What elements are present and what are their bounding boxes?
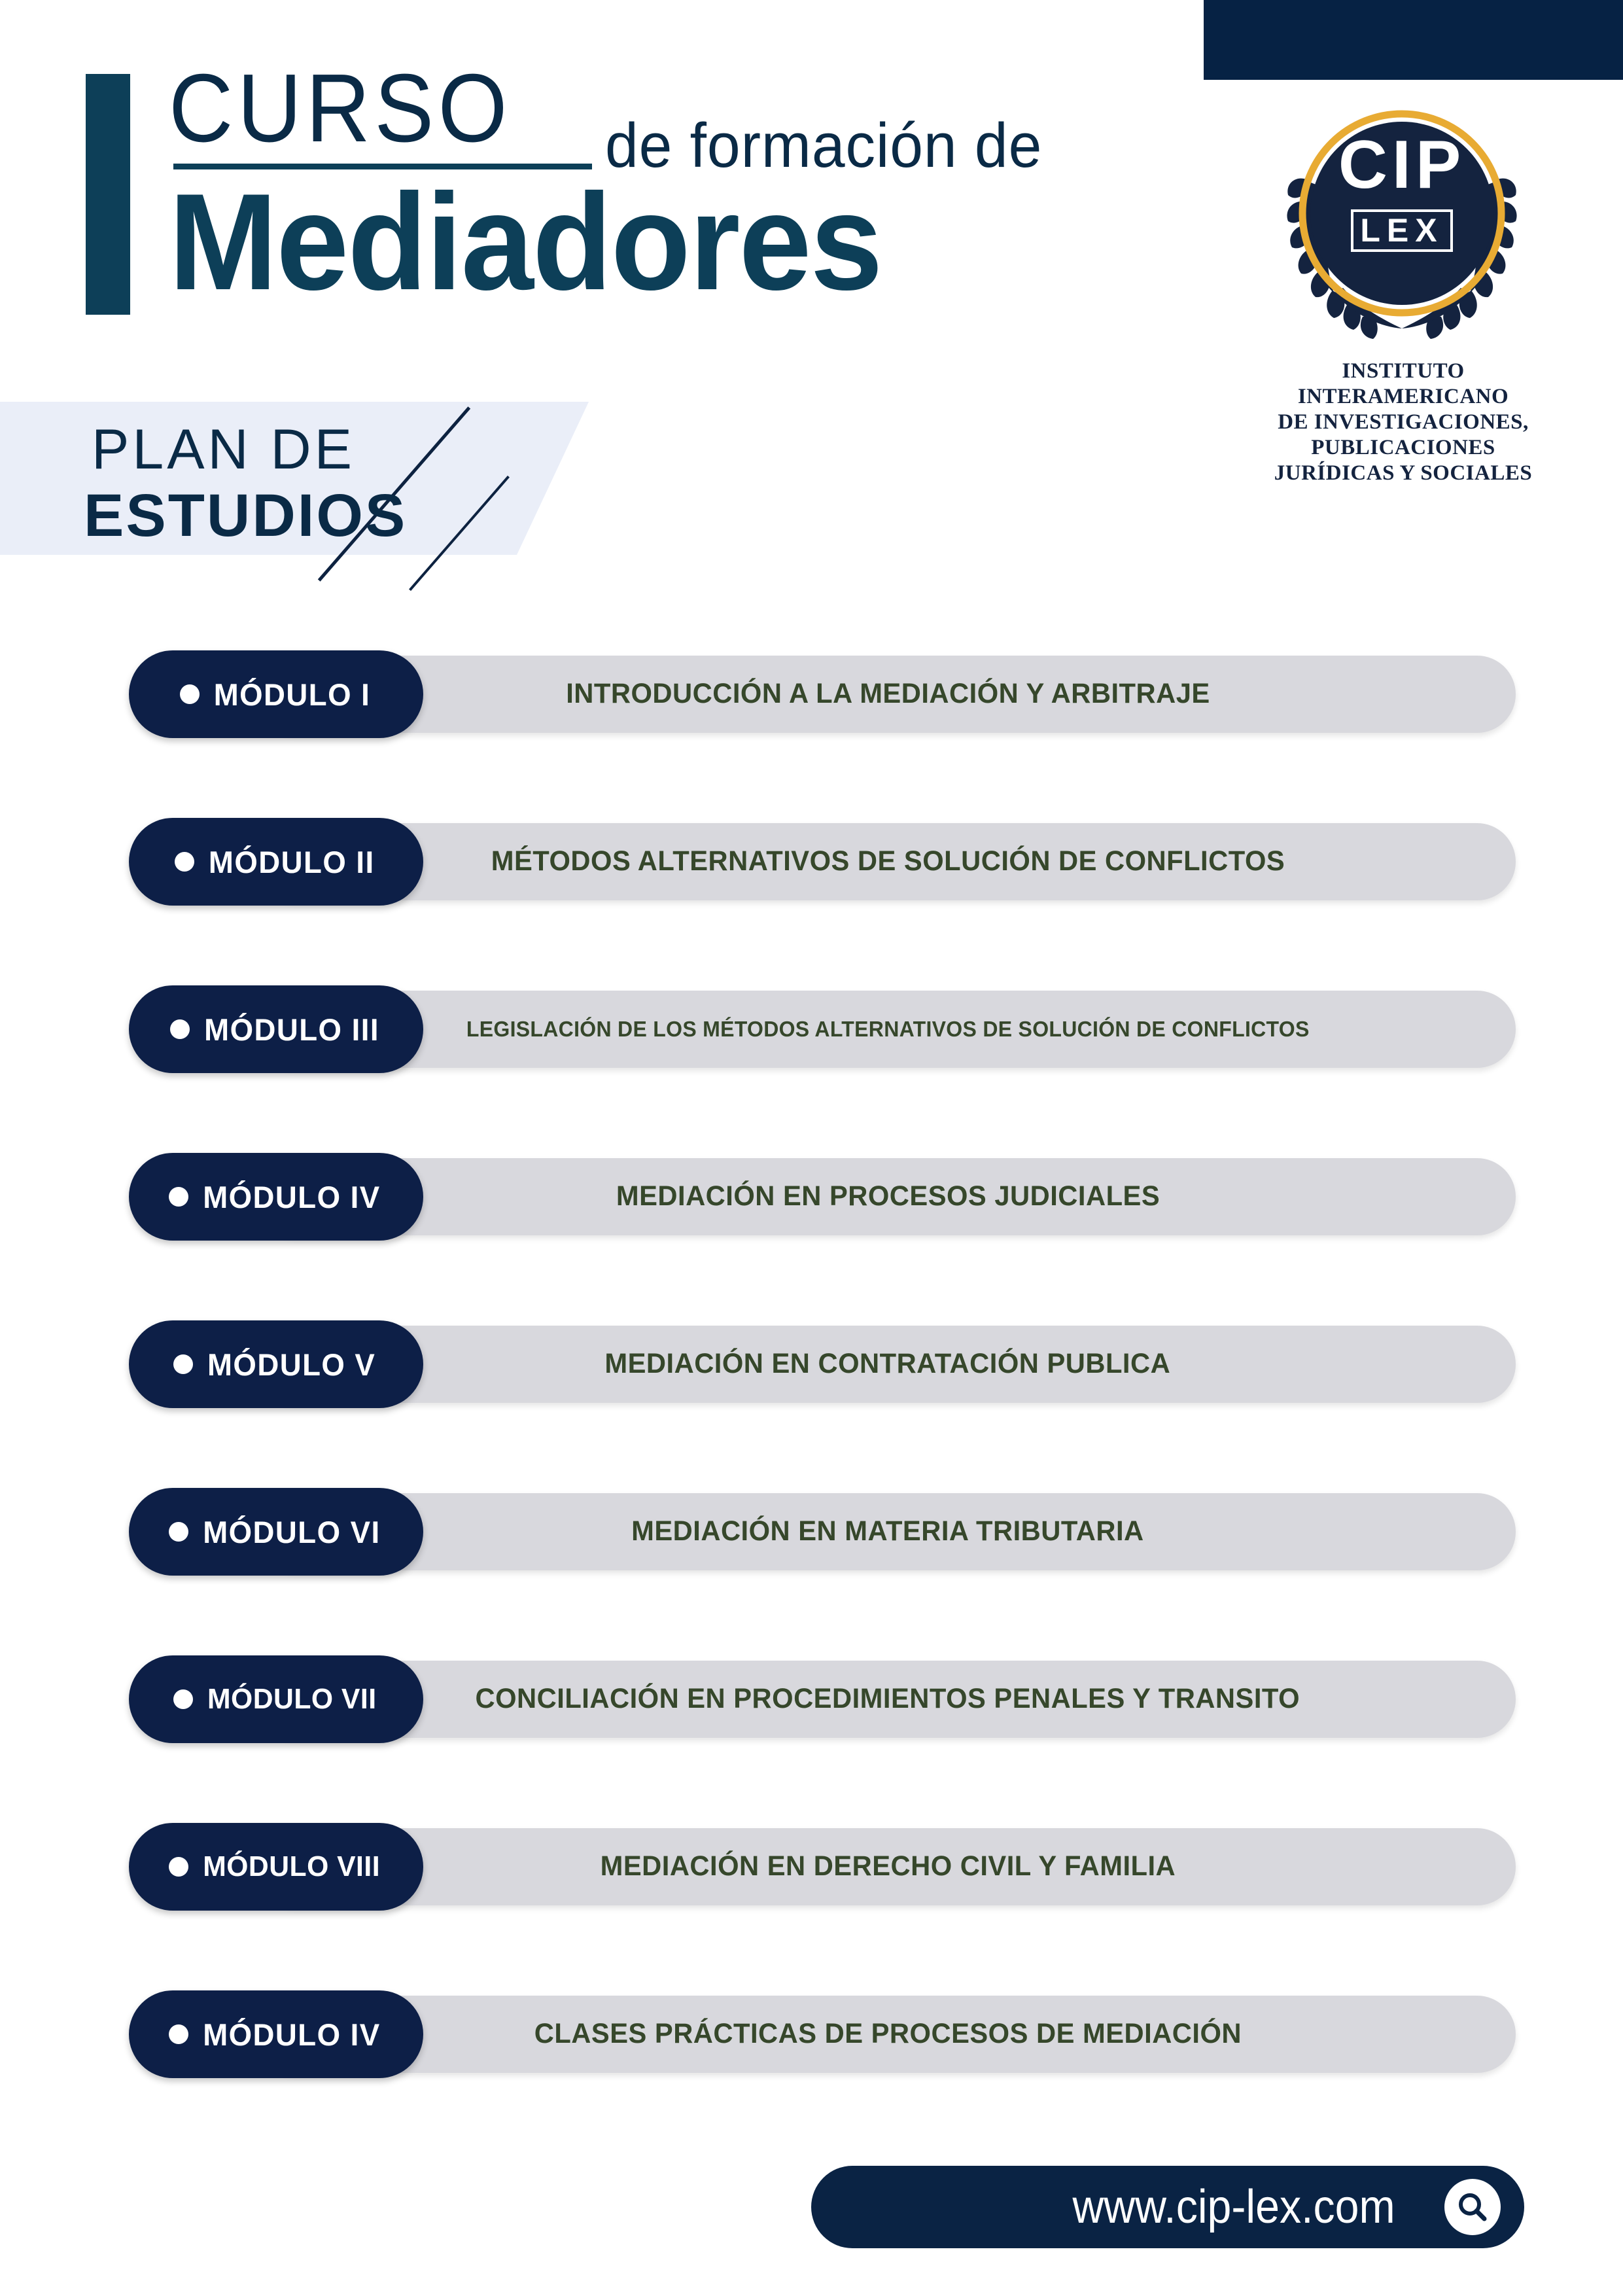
- bullet-dot-icon: [173, 1354, 193, 1374]
- module-label: MÓDULO VIII: [203, 1850, 381, 1883]
- module-label: MÓDULO IV: [203, 2017, 380, 2053]
- bullet-dot-icon: [180, 684, 200, 704]
- module-badge[interactable]: MÓDULO VII: [129, 1655, 423, 1743]
- search-icon[interactable]: [1444, 2179, 1501, 2235]
- module-title-bar: MEDIACIÓN EN CONTRATACIÓN PUBLICA: [260, 1326, 1516, 1403]
- bullet-dot-icon: [170, 1019, 190, 1039]
- module-title: LEGISLACIÓN DE LOS MÉTODOS ALTERNATIVOS …: [466, 1016, 1310, 1043]
- module-label: MÓDULO VII: [207, 1683, 377, 1716]
- bullet-dot-icon: [169, 2024, 188, 2044]
- module-row[interactable]: MÉTODOS ALTERNATIVOS DE SOLUCIÓN DE CONF…: [129, 823, 1516, 900]
- bullet-dot-icon: [173, 1689, 193, 1709]
- module-label: MÓDULO I: [213, 677, 370, 713]
- module-row[interactable]: MEDIACIÓN EN PROCESOS JUDICIALES MÓDULO …: [129, 1158, 1516, 1235]
- module-badge[interactable]: MÓDULO I: [129, 650, 423, 738]
- bullet-dot-icon: [169, 1187, 188, 1207]
- module-badge[interactable]: MÓDULO IV: [129, 1990, 423, 2078]
- module-title: MEDIACIÓN EN MATERIA TRIBUTARIA: [631, 1513, 1144, 1549]
- module-label: MÓDULO VI: [203, 1514, 380, 1550]
- module-badge[interactable]: MÓDULO IV: [129, 1153, 423, 1241]
- bullet-dot-icon: [169, 1522, 188, 1542]
- module-title-bar: CONCILIACIÓN EN PROCEDIMIENTOS PENALES Y…: [260, 1661, 1516, 1738]
- module-title: MEDIACIÓN EN PROCESOS JUDICIALES: [616, 1178, 1159, 1214]
- module-title-bar: MEDIACIÓN EN PROCESOS JUDICIALES: [260, 1158, 1516, 1235]
- module-title-bar: INTRODUCCIÓN A LA MEDIACIÓN Y ARBITRAJE: [260, 656, 1516, 733]
- modules-list: INTRODUCCIÓN A LA MEDIACIÓN Y ARBITRAJE …: [0, 0, 1623, 2296]
- module-title: CONCILIACIÓN EN PROCEDIMIENTOS PENALES Y…: [476, 1681, 1300, 1717]
- module-row[interactable]: LEGISLACIÓN DE LOS MÉTODOS ALTERNATIVOS …: [129, 991, 1516, 1068]
- module-badge[interactable]: MÓDULO II: [129, 818, 423, 906]
- magnifier-glyph: [1455, 2189, 1490, 2225]
- module-title-bar: CLASES PRÁCTICAS DE PROCESOS DE MEDIACIÓ…: [260, 1996, 1516, 2073]
- module-label: MÓDULO II: [209, 844, 375, 880]
- module-badge[interactable]: MÓDULO V: [129, 1320, 423, 1408]
- bullet-dot-icon: [175, 852, 194, 872]
- module-title-bar: LEGISLACIÓN DE LOS MÉTODOS ALTERNATIVOS …: [260, 991, 1516, 1068]
- website-url[interactable]: www.cip-lex.com: [1072, 2180, 1395, 2234]
- module-title-bar: MEDIACIÓN EN DERECHO CIVIL Y FAMILIA: [260, 1828, 1516, 1905]
- module-title-bar: MÉTODOS ALTERNATIVOS DE SOLUCIÓN DE CONF…: [260, 823, 1516, 900]
- module-row[interactable]: MEDIACIÓN EN MATERIA TRIBUTARIA MÓDULO V…: [129, 1493, 1516, 1570]
- module-title-bar: MEDIACIÓN EN MATERIA TRIBUTARIA: [260, 1493, 1516, 1570]
- module-row[interactable]: CLASES PRÁCTICAS DE PROCESOS DE MEDIACIÓ…: [129, 1996, 1516, 2073]
- module-row[interactable]: MEDIACIÓN EN DERECHO CIVIL Y FAMILIA MÓD…: [129, 1828, 1516, 1905]
- module-badge[interactable]: MÓDULO VIII: [129, 1823, 423, 1911]
- module-row[interactable]: INTRODUCCIÓN A LA MEDIACIÓN Y ARBITRAJE …: [129, 656, 1516, 733]
- module-title: INTRODUCCIÓN A LA MEDIACIÓN Y ARBITRAJE: [566, 676, 1210, 712]
- module-badge[interactable]: MÓDULO III: [129, 985, 423, 1073]
- bullet-dot-icon: [169, 1857, 188, 1877]
- module-badge[interactable]: MÓDULO VI: [129, 1488, 423, 1576]
- footer-website-pill[interactable]: www.cip-lex.com: [811, 2166, 1524, 2248]
- module-row[interactable]: MEDIACIÓN EN CONTRATACIÓN PUBLICA MÓDULO…: [129, 1326, 1516, 1403]
- module-title: MEDIACIÓN EN CONTRATACIÓN PUBLICA: [605, 1346, 1171, 1382]
- module-title: MEDIACIÓN EN DERECHO CIVIL Y FAMILIA: [600, 1848, 1176, 1884]
- module-label: MÓDULO III: [204, 1012, 379, 1048]
- module-title: MÉTODOS ALTERNATIVOS DE SOLUCIÓN DE CONF…: [491, 843, 1284, 879]
- module-row[interactable]: CONCILIACIÓN EN PROCEDIMIENTOS PENALES Y…: [129, 1661, 1516, 1738]
- module-title: CLASES PRÁCTICAS DE PROCESOS DE MEDIACIÓ…: [534, 2016, 1241, 2052]
- module-label: MÓDULO V: [207, 1347, 375, 1383]
- module-label: MÓDULO IV: [203, 1179, 380, 1215]
